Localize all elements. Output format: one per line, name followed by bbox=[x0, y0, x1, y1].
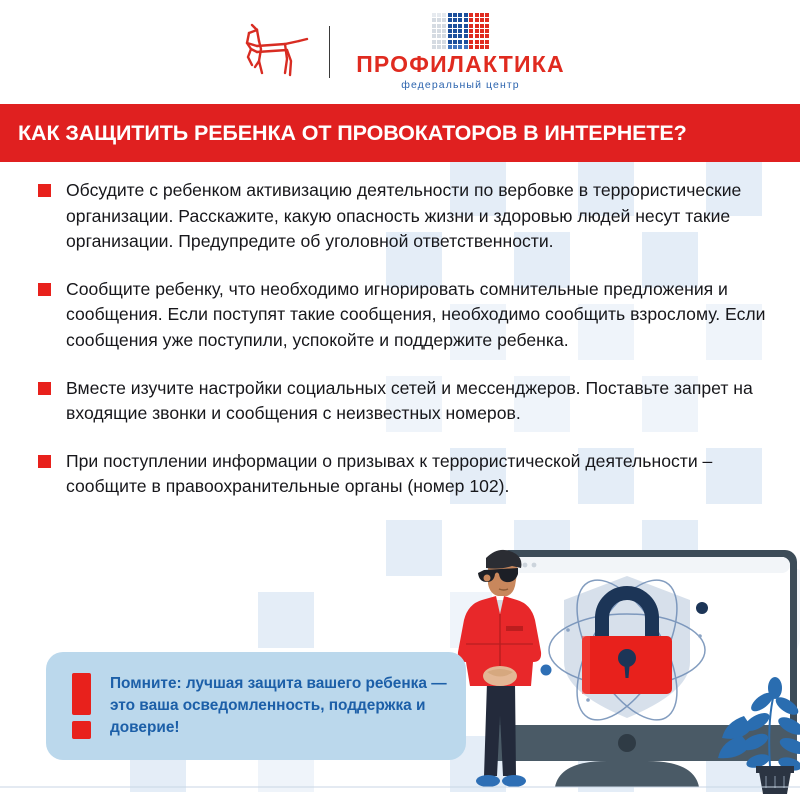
logo-divider bbox=[329, 26, 330, 78]
brand-grid-cell bbox=[485, 18, 489, 22]
brand-grid-cell bbox=[464, 24, 468, 28]
brand-grid-cell bbox=[475, 34, 479, 38]
brand-grid-cell bbox=[453, 45, 457, 49]
brand-lockup: ПРОФИЛАКТИКА федеральный центр bbox=[356, 13, 565, 91]
brand-grid-cell bbox=[475, 13, 479, 17]
brand-grid-cell bbox=[458, 18, 462, 22]
brand-grid-cell bbox=[442, 40, 446, 44]
brand-grid-cell bbox=[442, 29, 446, 33]
brand-grid-cell bbox=[464, 40, 468, 44]
brand-grid-cell bbox=[464, 34, 468, 38]
brand-grid-cell bbox=[437, 29, 441, 33]
brand-grid-cell bbox=[458, 29, 462, 33]
brand-grid-cell bbox=[437, 24, 441, 28]
brand-grid-cell bbox=[458, 45, 462, 49]
brand-grid-cell bbox=[464, 29, 468, 33]
brand-grid-cell bbox=[469, 29, 473, 33]
advice-item: При поступлении информации о призывах к … bbox=[0, 449, 800, 500]
brand-grid-cell bbox=[469, 24, 473, 28]
brand-grid-cell bbox=[442, 24, 446, 28]
brand-grid-cell bbox=[453, 13, 457, 17]
brand-grid-cell bbox=[453, 24, 457, 28]
brand-grid-cell bbox=[469, 34, 473, 38]
brand-grid-cell bbox=[458, 34, 462, 38]
brand-grid-cell bbox=[464, 18, 468, 22]
brand-grid-cell bbox=[453, 34, 457, 38]
bullet-square-icon bbox=[38, 283, 51, 296]
brand-grid-cell bbox=[475, 18, 479, 22]
advice-item-text: Вместе изучите настройки социальных сете… bbox=[66, 376, 766, 427]
brand-grid-cell bbox=[485, 29, 489, 33]
advice-item-text: При поступлении информации о призывах к … bbox=[66, 449, 766, 500]
brand-grid-cell bbox=[480, 13, 484, 17]
brand-grid-cell bbox=[480, 24, 484, 28]
brand-grid-cell bbox=[485, 13, 489, 17]
brand-grid-cell bbox=[485, 34, 489, 38]
brand-grid-cell bbox=[432, 13, 436, 17]
brand-grid-cell bbox=[475, 29, 479, 33]
brand-grid-cell bbox=[437, 18, 441, 22]
brand-grid-cell bbox=[442, 34, 446, 38]
brand-grid-cell bbox=[437, 34, 441, 38]
brand-grid-cell bbox=[432, 40, 436, 44]
bullet-square-icon bbox=[38, 455, 51, 468]
brand-grid-cell bbox=[458, 13, 462, 17]
brand-grid-cell bbox=[432, 24, 436, 28]
brand-grid-cell bbox=[453, 29, 457, 33]
brand-grid-cell bbox=[453, 40, 457, 44]
infographic-poster: ПРОФИЛАКТИКА федеральный центр КАК ЗАЩИТ… bbox=[0, 0, 800, 800]
advice-item-text: Обсудите с ребенком активизацию деятельн… bbox=[66, 178, 766, 255]
callout-text: Помните: лучшая защита вашего ребенка — … bbox=[110, 673, 466, 739]
brand-grid-cell bbox=[485, 24, 489, 28]
brand-grid-cell bbox=[448, 24, 452, 28]
advice-item-text: Сообщите ребенку, что необходимо игнорир… bbox=[66, 277, 766, 354]
brand-grid-mark bbox=[432, 13, 490, 49]
brand-grid-cell bbox=[469, 18, 473, 22]
brand-grid-cell bbox=[469, 40, 473, 44]
brand-grid-cell bbox=[480, 18, 484, 22]
logo-header: ПРОФИЛАКТИКА федеральный центр bbox=[0, 0, 800, 104]
brand-grid-cell bbox=[485, 45, 489, 49]
brand-grid-cell bbox=[448, 45, 452, 49]
brand-grid-cell bbox=[475, 45, 479, 49]
brand-grid-cell bbox=[437, 45, 441, 49]
brand-grid-cell bbox=[432, 45, 436, 49]
brand-grid-cell bbox=[448, 13, 452, 17]
advice-item: Вместе изучите настройки социальных сете… bbox=[0, 376, 800, 427]
brand-grid-cell bbox=[432, 34, 436, 38]
brand-grid-cell bbox=[453, 18, 457, 22]
brand-grid-cell bbox=[464, 45, 468, 49]
brand-grid-cell bbox=[432, 18, 436, 22]
brand-grid-cell bbox=[437, 40, 441, 44]
brand-grid-cell bbox=[480, 29, 484, 33]
brand-grid-cell bbox=[448, 18, 452, 22]
brand-grid-cell bbox=[475, 40, 479, 44]
page-title: КАК ЗАЩИТИТЬ РЕБЕНКА ОТ ПРОВОКАТОРОВ В И… bbox=[0, 121, 687, 146]
brand-grid-cell bbox=[464, 13, 468, 17]
title-banner: КАК ЗАЩИТИТЬ РЕБЕНКА ОТ ПРОВОКАТОРОВ В И… bbox=[0, 104, 800, 162]
brand-subtitle: федеральный центр bbox=[401, 79, 520, 91]
horse-line-art-icon bbox=[235, 19, 315, 85]
brand-grid-cell bbox=[437, 13, 441, 17]
exclamation-mark-icon bbox=[68, 673, 94, 739]
brand-grid-cell bbox=[469, 45, 473, 49]
bullet-square-icon bbox=[38, 184, 51, 197]
brand-grid-cell bbox=[448, 34, 452, 38]
advice-item: Обсудите с ребенком активизацию деятельн… bbox=[0, 178, 800, 255]
brand-grid-cell bbox=[480, 34, 484, 38]
brand-grid-cell bbox=[442, 18, 446, 22]
brand-name: ПРОФИЛАКТИКА bbox=[356, 53, 565, 76]
bullet-square-icon bbox=[38, 382, 51, 395]
brand-grid-cell bbox=[480, 45, 484, 49]
brand-grid-cell bbox=[485, 40, 489, 44]
brand-grid-cell bbox=[442, 13, 446, 17]
brand-grid-cell bbox=[448, 29, 452, 33]
brand-grid-cell bbox=[442, 45, 446, 49]
callout-box: Помните: лучшая защита вашего ребенка — … bbox=[46, 652, 466, 760]
brand-grid-cell bbox=[448, 40, 452, 44]
brand-grid-cell bbox=[458, 24, 462, 28]
advice-list: Обсудите с ребенком активизацию деятельн… bbox=[0, 178, 800, 522]
brand-grid-cell bbox=[432, 29, 436, 33]
brand-grid-cell bbox=[469, 13, 473, 17]
brand-grid-cell bbox=[458, 40, 462, 44]
advice-item: Сообщите ребенку, что необходимо игнорир… bbox=[0, 277, 800, 354]
brand-grid-cell bbox=[480, 40, 484, 44]
brand-grid-cell bbox=[475, 24, 479, 28]
